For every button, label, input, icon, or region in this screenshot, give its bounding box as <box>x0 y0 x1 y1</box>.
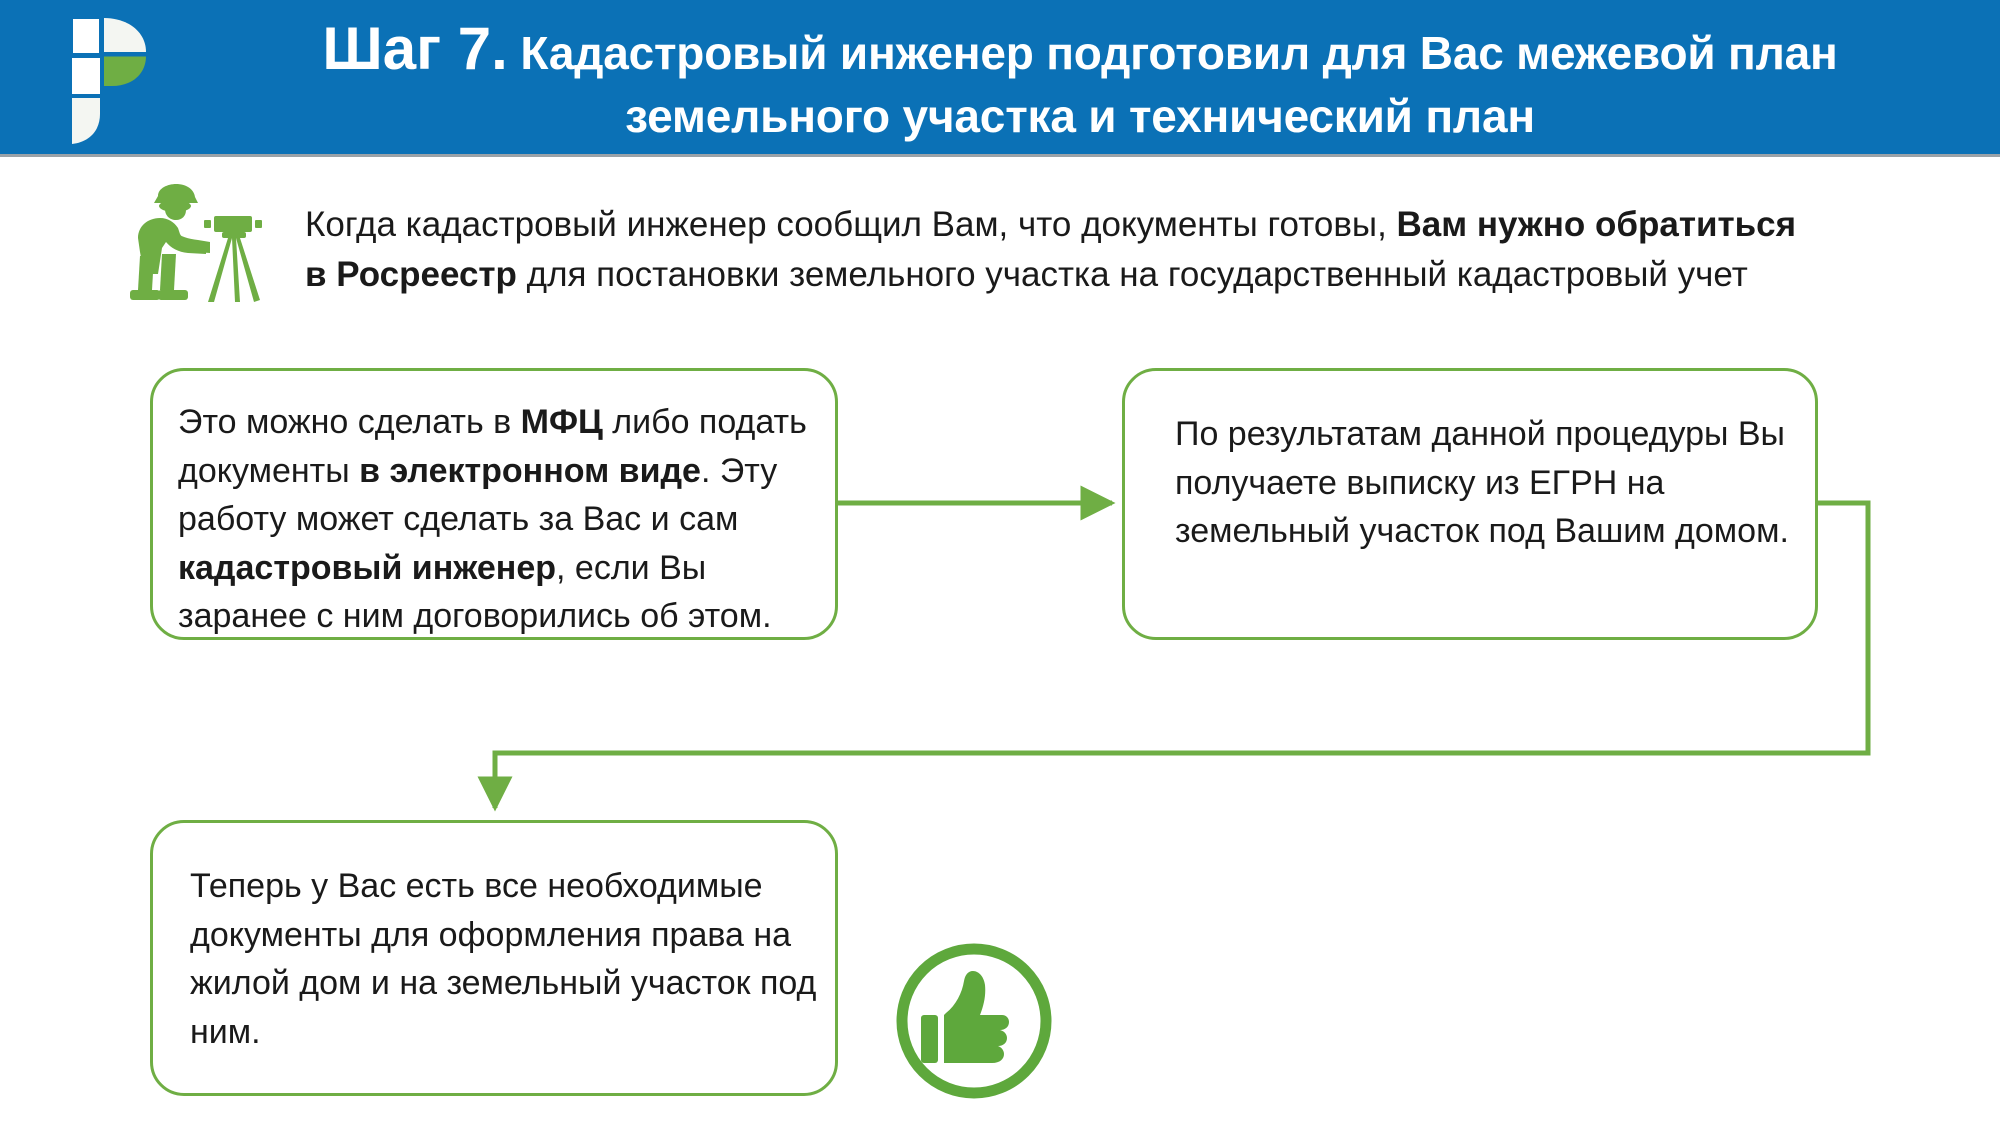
page-title: Шаг 7. Кадастровый инженер подготовил дл… <box>190 11 1980 147</box>
title-main: Кадастровый инженер подготовил для Вас м… <box>520 27 1837 143</box>
header-title-block: Шаг 7. Кадастровый инженер подготовил дл… <box>190 0 1980 157</box>
text-segment: Это можно сделать в <box>178 403 521 441</box>
surveyor-theodolite-icon <box>118 182 278 312</box>
flow-box-2-text: По результатам данной процедуры Вы получ… <box>1175 410 1815 556</box>
intro-text-part1: Когда кадастровый инженер сообщил Вам, ч… <box>305 205 1397 244</box>
header-bar: Шаг 7. Кадастровый инженер подготовил дл… <box>0 0 2000 157</box>
text-segment: МФЦ <box>521 403 603 441</box>
rosreestr-logo <box>52 10 156 150</box>
slide-canvas: Шаг 7. Кадастровый инженер подготовил дл… <box>0 0 2000 1125</box>
text-segment: кадастровый инженер <box>178 549 556 587</box>
intro-paragraph: Когда кадастровый инженер сообщил Вам, ч… <box>305 200 1825 299</box>
step-label: Шаг 7. <box>322 15 507 82</box>
flow-box-3-text: Теперь у Вас есть все необходимые докуме… <box>190 862 820 1056</box>
text-segment: в электронном виде <box>359 452 701 490</box>
flow-box-1-text: Это можно сделать в МФЦ либо подать доку… <box>178 398 828 641</box>
intro-text-part2: для постановки земельного участка на гос… <box>517 255 1748 294</box>
text-segment: По результатам данной процедуры Вы получ… <box>1175 415 1789 550</box>
text-segment: Теперь у Вас есть все необходимые докуме… <box>190 867 816 1051</box>
thumbs-up-circle-icon <box>888 935 1060 1107</box>
